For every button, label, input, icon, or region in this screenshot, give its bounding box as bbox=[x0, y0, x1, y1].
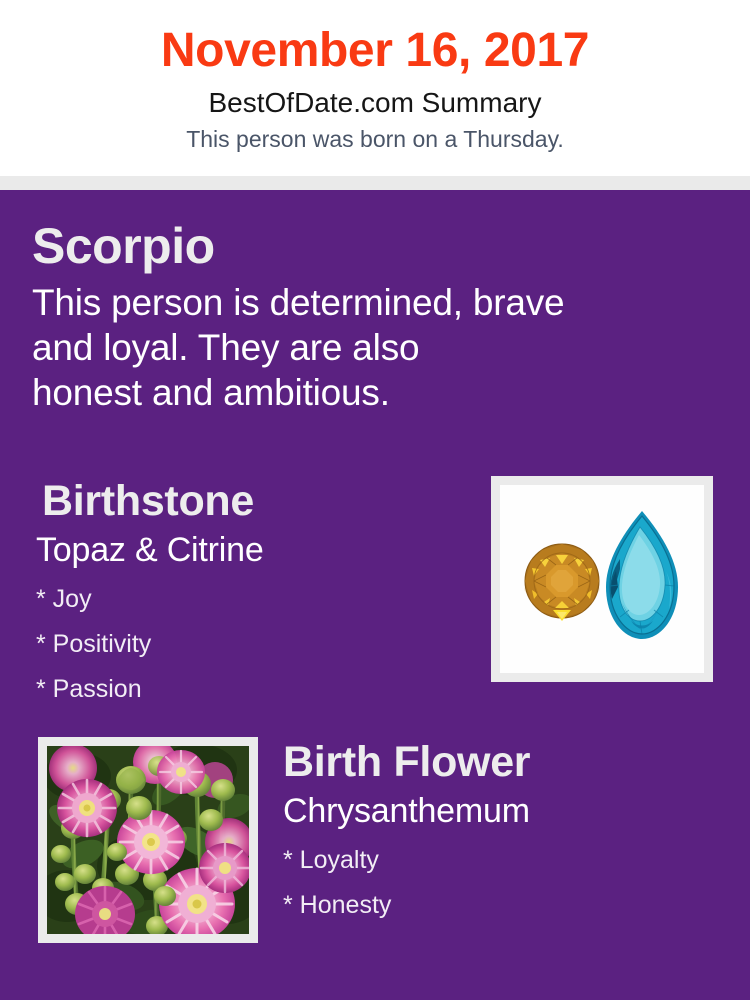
page-header: November 16, 2017 BestOfDate.com Summary… bbox=[0, 0, 750, 176]
birthflower-image-frame bbox=[38, 737, 258, 943]
chrysanthemum-illustration bbox=[47, 746, 249, 934]
birthflower-name: Chrysanthemum bbox=[283, 789, 713, 832]
birthflower-section: Birth Flower Chrysanthemum * Loyalty * H… bbox=[283, 735, 713, 928]
list-item: * Loyalty bbox=[283, 838, 713, 883]
birthflower-image bbox=[47, 746, 249, 934]
summary-page: November 16, 2017 BestOfDate.com Summary… bbox=[0, 0, 750, 1000]
zodiac-section: Scorpio This person is determined, brave… bbox=[32, 214, 712, 415]
zodiac-description: This person is determined, brave and loy… bbox=[32, 278, 712, 415]
page-title: November 16, 2017 bbox=[0, 0, 750, 80]
list-item: * Passion bbox=[36, 667, 466, 712]
list-item: * Joy bbox=[36, 577, 466, 622]
birthstone-section: Birthstone Topaz & Citrine * Joy * Posit… bbox=[36, 474, 466, 712]
site-summary-label: BestOfDate.com Summary bbox=[0, 80, 750, 120]
header-divider bbox=[0, 176, 750, 190]
list-item: * Honesty bbox=[283, 883, 713, 928]
birthstone-image bbox=[500, 485, 704, 673]
list-item: * Positivity bbox=[36, 622, 466, 667]
born-day-text: This person was born on a Thursday. bbox=[0, 120, 750, 154]
birthstone-name: Topaz & Citrine bbox=[36, 528, 466, 571]
birthstone-image-frame bbox=[491, 476, 713, 682]
gemstones-illustration bbox=[500, 485, 704, 673]
birthstone-heading: Birthstone bbox=[42, 474, 466, 528]
birthflower-heading: Birth Flower bbox=[283, 735, 713, 789]
zodiac-sign-name: Scorpio bbox=[32, 214, 712, 278]
birthflower-trait-list: * Loyalty * Honesty bbox=[283, 832, 713, 928]
birthstone-trait-list: * Joy * Positivity * Passion bbox=[36, 571, 466, 712]
